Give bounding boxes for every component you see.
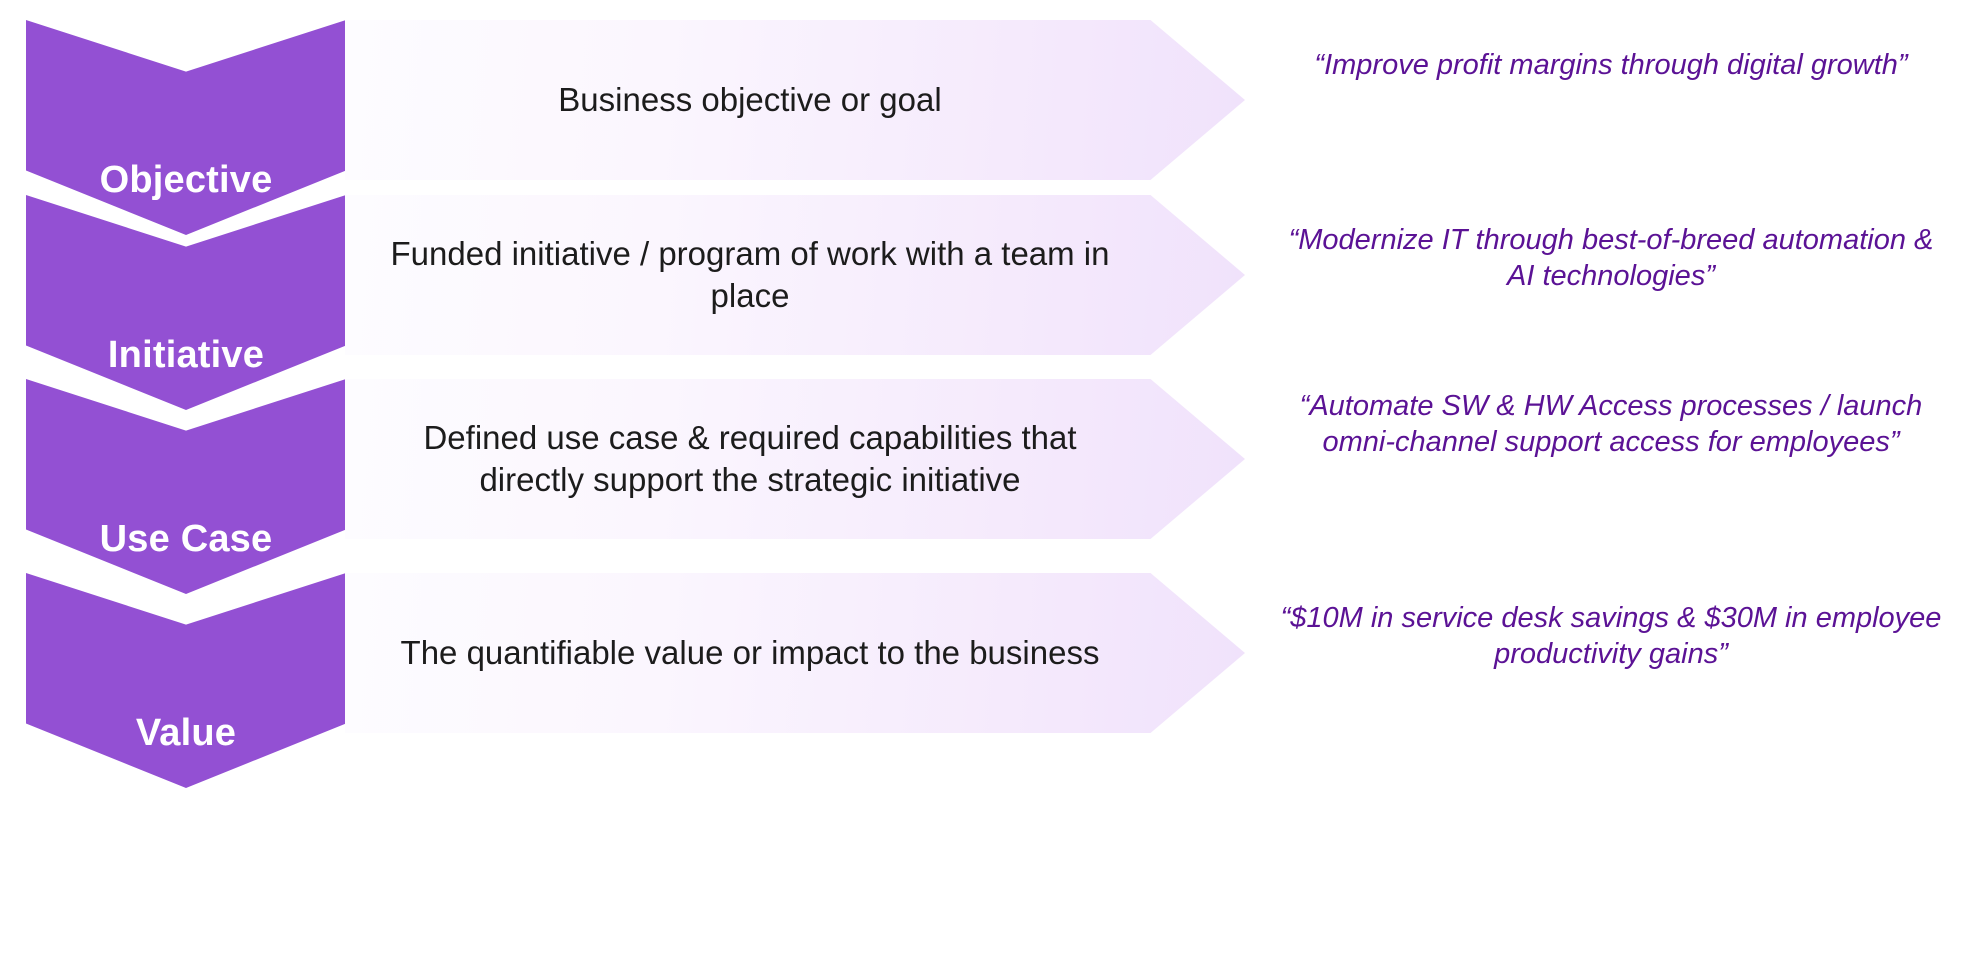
chevron-label-value: Value <box>26 714 346 788</box>
chevron-value[interactable]: Value <box>26 573 346 788</box>
banner-value[interactable]: The quantifiable value or impact to the … <box>345 573 1245 733</box>
chevron-label-use-case: Use Case <box>26 520 346 594</box>
banner-use-case[interactable]: Defined use case & required capabilities… <box>345 379 1245 539</box>
banner-initiative[interactable]: Funded initiative / program of work with… <box>345 195 1245 355</box>
example-quote-use-case: “Automate SW & HW Access processes / lau… <box>1272 389 1950 461</box>
banner-description-initiative: Funded initiative / program of work with… <box>370 233 1130 316</box>
banner-description-value: The quantifiable value or impact to the … <box>370 632 1130 674</box>
example-quote-value: “$10M in service desk savings & $30M in … <box>1272 601 1950 673</box>
chevron-label-objective: Objective <box>26 161 346 235</box>
chevron-label-initiative: Initiative <box>26 336 346 410</box>
chevron-use-case[interactable]: Use Case <box>26 379 346 594</box>
banner-objective[interactable]: Business objective or goal <box>345 20 1245 180</box>
chevron-objective[interactable]: Objective <box>26 20 346 235</box>
banner-description-use-case: Defined use case & required capabilities… <box>370 417 1130 500</box>
banner-description-objective: Business objective or goal <box>370 79 1130 121</box>
example-quote-initiative: “Modernize IT through best-of-breed auto… <box>1272 223 1950 295</box>
diagram-row-value: Value The quantifiable value or impact t… <box>0 573 1962 833</box>
diagram-canvas: Objective Business objective or goal “Im… <box>0 0 1962 962</box>
example-quote-objective: “Improve profit margins through digital … <box>1272 48 1950 84</box>
